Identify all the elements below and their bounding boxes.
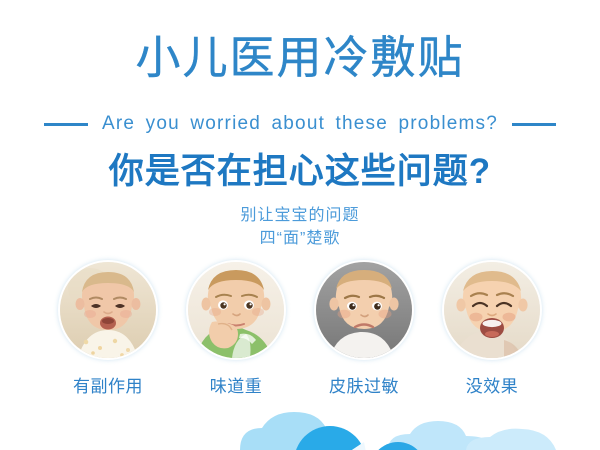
sad-baby-gray-photo [316,262,412,358]
baby-face-illustration-4 [444,262,540,358]
problem-label: 没效果 [466,377,519,397]
page-title: 小儿医用冷敷贴 [0,30,600,86]
poster-canvas: 小儿医用冷敷贴 Are you worried about these prob… [0,0,600,450]
baby-covering-nose-photo [188,262,284,358]
problem-card: 没效果 [443,262,542,397]
chinese-heading: 你是否在担心这些问题? [0,150,600,194]
problem-card-list: 有副作用 [0,262,600,397]
tagline-line-2: 四“面”楚歌 [0,227,600,250]
tagline-line-1: 别让宝宝的问题 [0,204,600,227]
problem-card: 味道重 [187,262,286,397]
english-subtitle-row: Are you worried about these problems? [0,112,600,136]
problem-label: 有副作用 [73,377,143,397]
cloud-light-right [388,421,492,450]
cloud-light-far-right [466,429,556,450]
problem-card: 皮肤过敏 [315,262,414,397]
cloud-bright-circle-2 [370,442,426,450]
cloud-bright-circle [294,426,366,450]
english-subtitle: Are you worried about these problems? [102,112,498,136]
crying-baby-beige-photo [60,262,156,358]
white-diamond-facet [352,442,366,450]
divider-rule-right [512,123,556,126]
tagline: 别让宝宝的问题 四“面”楚歌 [0,204,600,250]
baby-face-illustration-2 [188,262,284,358]
cloud-wave-decoration [0,410,600,450]
problem-label: 皮肤过敏 [329,377,399,397]
baby-face-illustration-1 [60,262,156,358]
problem-label: 味道重 [210,377,263,397]
cloud-shapes [0,410,600,450]
white-diamond-logo [352,442,378,450]
baby-face-illustration-3 [316,262,412,358]
screaming-baby-photo [444,262,540,358]
divider-rule-left [44,123,88,126]
problem-card: 有副作用 [59,262,158,397]
cloud-light-left [240,412,356,450]
